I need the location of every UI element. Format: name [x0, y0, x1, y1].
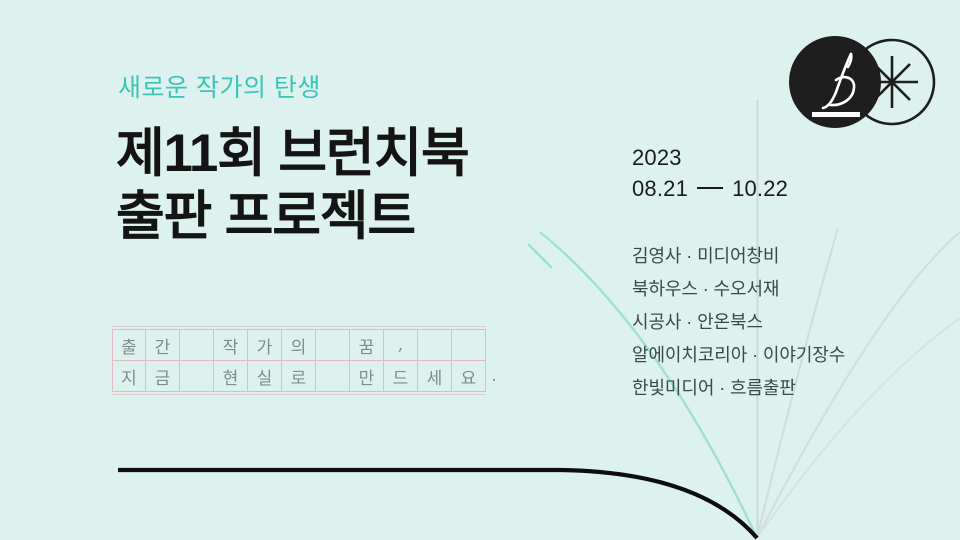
title-line-2: 출판 프로젝트 [116, 185, 469, 248]
publisher-line: 시공사 · 안온북스 [632, 306, 845, 339]
page-title: 제11회 브런치북 출판 프로젝트 [116, 122, 469, 248]
manuscript-cell: 요 [452, 361, 486, 391]
manuscript-cell: 로 [282, 361, 316, 391]
schedule-start: 08.21 [632, 176, 688, 201]
grid-rule-bottom-thin [112, 394, 486, 395]
manuscript-cell: , [384, 330, 418, 360]
manuscript-cell [316, 330, 350, 360]
manuscript-cell [452, 330, 486, 360]
manuscript-cell: 작 [214, 330, 248, 360]
manuscript-cell: 만 [350, 361, 384, 391]
schedule-separator-icon [697, 187, 723, 189]
manuscript-cell: 드 [384, 361, 418, 391]
manuscript-row-1: 출간작가의꿈, [112, 330, 502, 360]
schedule-range: 08.2110.22 [632, 173, 788, 204]
grid-rule-bottom [112, 391, 486, 392]
manuscript-cell: 간 [146, 330, 180, 360]
logo-underline [812, 112, 860, 117]
manuscript-cell [418, 330, 452, 360]
schedule-end: 10.22 [732, 176, 788, 201]
manuscript-grid: 출간작가의꿈, 지금현실로만드세요. [112, 326, 502, 395]
publisher-list: 김영사 · 미디어창비북하우스 · 수오서재시공사 · 안온북스알에이치코리아 … [632, 240, 845, 405]
manuscript-cell: 가 [248, 330, 282, 360]
grid-rule-top-thin [112, 326, 486, 327]
manuscript-cell: 금 [146, 361, 180, 391]
manuscript-cell: 현 [214, 361, 248, 391]
manuscript-cell: 실 [248, 361, 282, 391]
manuscript-cell [180, 361, 214, 391]
manuscript-row-2: 지금현실로만드세요. [112, 361, 502, 391]
manuscript-cell: 의 [282, 330, 316, 360]
subtitle: 새로운 작가의 탄생 [118, 68, 321, 104]
manuscript-cell [180, 330, 214, 360]
schedule-year: 2023 [632, 142, 788, 173]
manuscript-cell-overflow: . [486, 361, 502, 391]
manuscript-cell: 지 [112, 361, 146, 391]
schedule: 2023 08.2110.22 [632, 142, 788, 204]
publisher-line: 김영사 · 미디어창비 [632, 240, 845, 273]
publisher-line: 북하우스 · 수오서재 [632, 273, 845, 306]
publisher-line: 알에이치코리아 · 이야기장수 [632, 339, 845, 372]
manuscript-cell: 세 [418, 361, 452, 391]
publisher-line: 한빛미디어 · 흐름출판 [632, 372, 845, 405]
brunchbook-logo[interactable] [789, 36, 939, 128]
poster-canvas: 새로운 작가의 탄생 제11회 브런치북 출판 프로젝트 출간작가의꿈, 지금현… [0, 0, 960, 540]
manuscript-cell: 출 [112, 330, 146, 360]
manuscript-cell: 꿈 [350, 330, 384, 360]
title-line-1: 제11회 브런치북 [116, 122, 469, 185]
manuscript-cell [316, 361, 350, 391]
